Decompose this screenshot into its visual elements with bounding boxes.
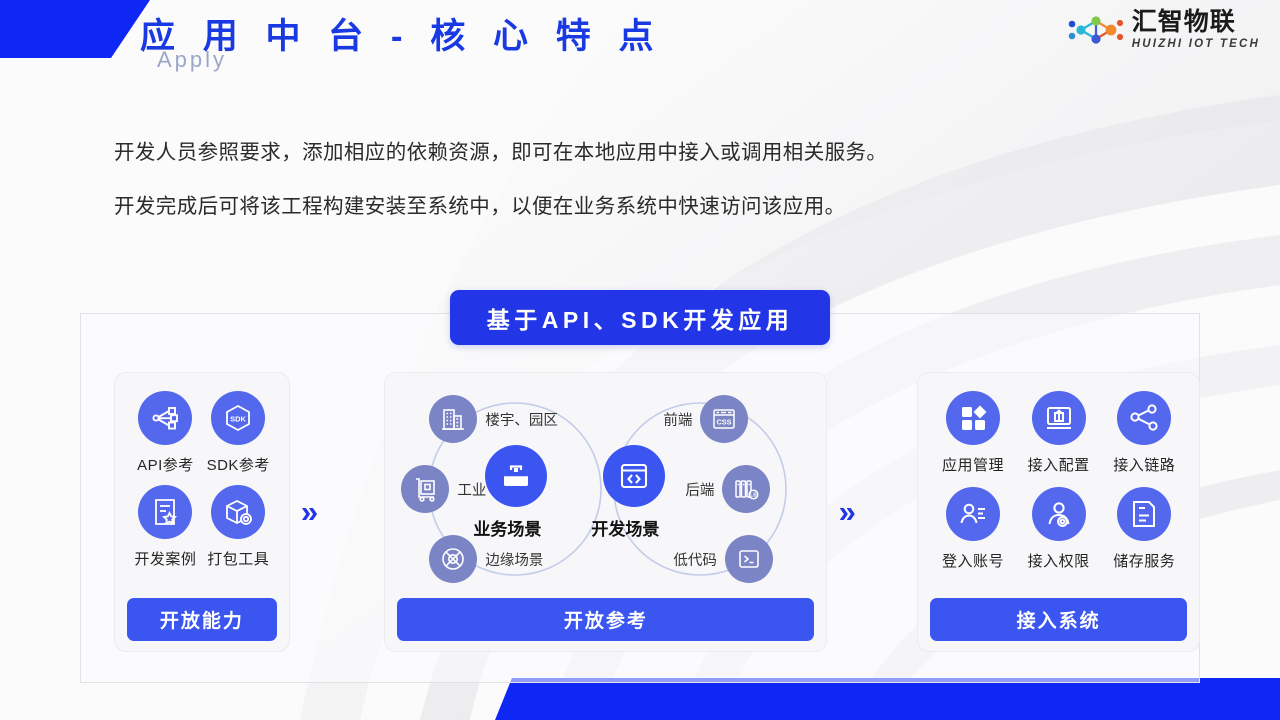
scene-node-building[interactable]: 楼宇、园区	[429, 395, 558, 443]
icon-item-storage-service[interactable]: 储存服务	[1113, 487, 1175, 571]
edge-network-icon	[429, 535, 477, 583]
logo-name-cn: 汇智物联	[1132, 10, 1236, 35]
panel-button-open-reference[interactable]: 开放参考	[397, 598, 814, 641]
briefcase-icon	[485, 445, 547, 507]
icon-label: 接入链路	[1113, 454, 1175, 475]
svg-text:CSS: CSS	[717, 418, 732, 427]
panels-row: API参考 SDK SDK参考	[80, 372, 1200, 657]
header-accent-shape	[0, 0, 150, 58]
icon-item-dev-case[interactable]: 开发案例	[134, 485, 196, 569]
chevron-double-right-icon-1: »	[290, 372, 330, 652]
user-gear-icon	[1032, 487, 1086, 541]
scene-node-label: 低代码	[673, 549, 717, 570]
open-capability-icon-grid: API参考 SDK SDK参考	[115, 385, 289, 569]
page-header: 应 用 中 台 - 核 心 特 点 Apply 汇智物联 HUIZHI IOT …	[0, 0, 1280, 72]
panel-button-access-system[interactable]: 接入系统	[930, 598, 1187, 641]
document-lines-icon	[1117, 487, 1171, 541]
diagram-title-label: 基于API、SDK开发应用	[487, 301, 793, 335]
logo-name-en: HUIZHI IOT TECH	[1132, 39, 1260, 51]
document-star-icon	[138, 485, 192, 539]
terminal-icon	[725, 535, 773, 583]
icon-label: 接入配置	[1028, 454, 1090, 475]
user-id-icon	[946, 487, 1000, 541]
server-database-icon: LB	[722, 465, 770, 513]
css-browser-icon: CSS	[700, 395, 748, 443]
intro-paragraphs: 开发人员参照要求，添加相应的依赖资源，即可在本地应用中接入或调用相关服务。 开发…	[114, 135, 887, 243]
icon-item-package-tool[interactable]: 打包工具	[207, 485, 269, 569]
scene-center-business[interactable]	[485, 445, 547, 507]
icon-label: 应用管理	[942, 454, 1004, 475]
icon-label: 储存服务	[1113, 550, 1175, 571]
package-gear-icon	[211, 485, 265, 539]
scene-node-label: 工业	[457, 479, 486, 500]
icon-label: 登入账号	[942, 550, 1004, 571]
chevron-double-right-icon-2: »	[827, 372, 867, 652]
intro-line-2: 开发完成后可将该工程构建安装至系统中，以便在业务系统中快速访问该应用。	[114, 189, 887, 219]
icon-item-api-reference[interactable]: API参考	[137, 391, 194, 475]
code-window-icon	[603, 445, 665, 507]
building-icon	[429, 395, 477, 443]
panel-open-reference: 楼宇、园区 工业	[384, 372, 827, 652]
scene-node-lowcode[interactable]: 低代码	[673, 535, 773, 583]
panel-open-capability: API参考 SDK SDK参考	[114, 372, 290, 652]
svg-text:SDK: SDK	[230, 415, 246, 424]
grid-blocks-icon	[946, 391, 1000, 445]
monitor-upload-icon	[1032, 391, 1086, 445]
diagram-title-banner: 基于API、SDK开发应用	[450, 290, 830, 345]
scene-node-backend[interactable]: 后端 LB	[685, 465, 770, 513]
icon-item-sdk-reference[interactable]: SDK SDK参考	[207, 391, 270, 475]
scene-node-label: 边缘场景	[485, 549, 543, 570]
scene-node-industry[interactable]: 工业	[401, 465, 486, 513]
icon-item-access-permission[interactable]: 接入权限	[1028, 487, 1090, 571]
network-nodes-logo-icon	[1067, 10, 1125, 50]
intro-line-1: 开发人员参照要求，添加相应的依赖资源，即可在本地应用中接入或调用相关服务。	[114, 135, 887, 165]
brand-logo: 汇智物联 HUIZHI IOT TECH	[1067, 10, 1260, 51]
icon-item-login-account[interactable]: 登入账号	[942, 487, 1004, 571]
panel-access-system: 应用管理 接入配置	[917, 372, 1200, 652]
icon-item-access-link[interactable]: 接入链路	[1113, 391, 1175, 475]
industrial-cart-icon	[401, 465, 449, 513]
scene-center-business-label: 业务场景	[473, 515, 541, 540]
svg-text:LB: LB	[751, 493, 758, 499]
panel-button-open-capability[interactable]: 开放能力	[127, 598, 277, 641]
scene-center-development-label: 开发场景	[591, 515, 659, 540]
scene-node-label: 楼宇、园区	[485, 409, 558, 430]
scene-diagram: 楼宇、园区 工业	[385, 385, 828, 603]
icon-label: API参考	[137, 454, 194, 475]
scene-node-edge[interactable]: 边缘场景	[429, 535, 543, 583]
share-nodes-icon	[1117, 391, 1171, 445]
scene-node-frontend[interactable]: 前端 CSS	[663, 395, 748, 443]
icon-label: 接入权限	[1028, 550, 1090, 571]
icon-label: 打包工具	[207, 548, 269, 569]
scene-node-label: 后端	[685, 479, 714, 500]
icon-item-access-config[interactable]: 接入配置	[1028, 391, 1090, 475]
access-system-icon-grid: 应用管理 接入配置	[918, 385, 1199, 571]
scene-node-label: 前端	[663, 409, 692, 430]
icon-label: SDK参考	[207, 454, 270, 475]
icon-label: 开发案例	[134, 548, 196, 569]
sdk-cube-icon: SDK	[211, 391, 265, 445]
icon-item-app-management[interactable]: 应用管理	[942, 391, 1004, 475]
footer-accent-shape	[0, 678, 1280, 720]
page-subtitle: Apply	[157, 47, 227, 73]
scene-center-development[interactable]	[603, 445, 665, 507]
api-branch-icon	[138, 391, 192, 445]
